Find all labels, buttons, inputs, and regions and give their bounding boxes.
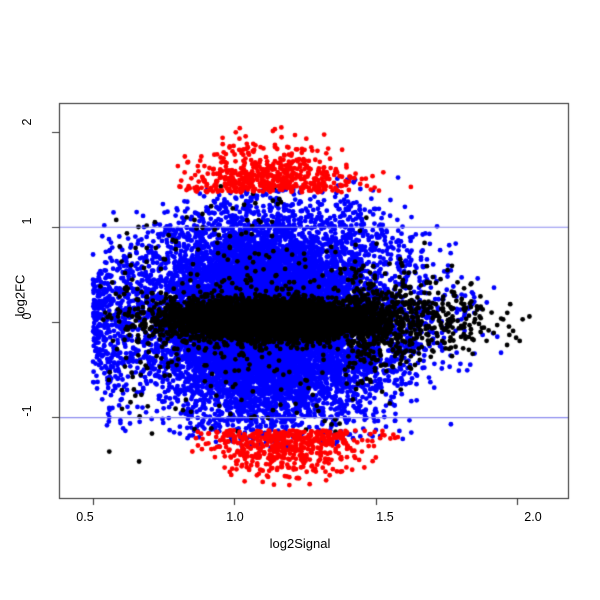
chart-figure: Fold change vs average abundance 0.5 1.0… xyxy=(0,0,600,600)
x-axis-label: log2Signal xyxy=(0,536,600,551)
ytick-label-0: -1 xyxy=(20,396,34,426)
ytick-label-3: 2 xyxy=(20,107,34,137)
xtick-label-1: 1.0 xyxy=(215,510,255,524)
y-axis-label: log2FC xyxy=(13,226,28,366)
xtick-label-0: 0.5 xyxy=(65,510,105,524)
xtick-label-2: 1.5 xyxy=(365,510,405,524)
xtick-label-3: 2.0 xyxy=(513,510,553,524)
